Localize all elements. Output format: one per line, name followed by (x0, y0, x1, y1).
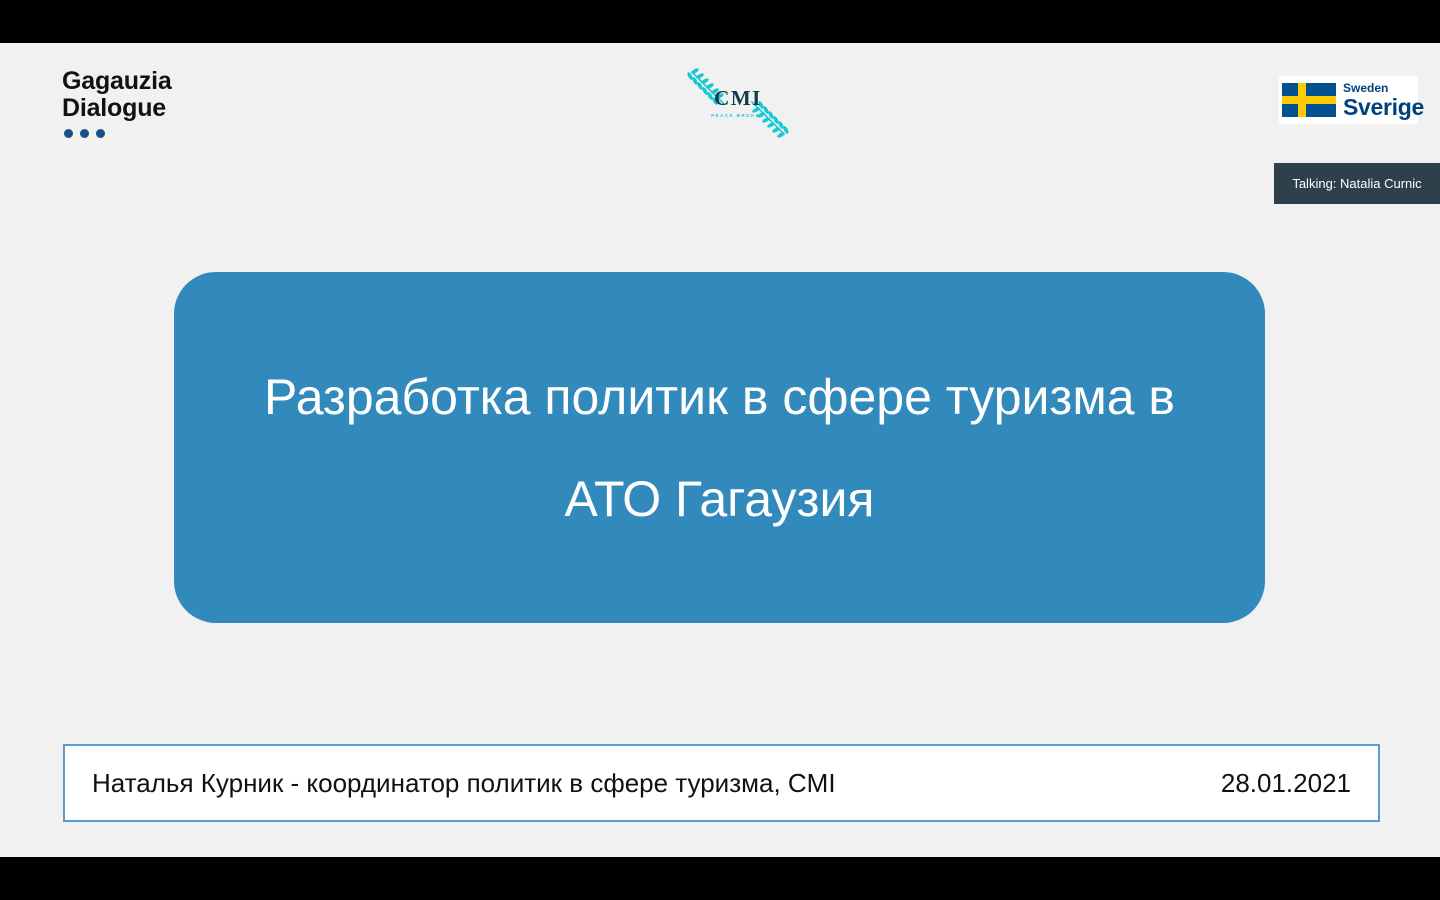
dot-icon (80, 129, 89, 138)
slide-title-box: Разработка политик в сфере туризма в АТО… (174, 272, 1265, 623)
sweden-logo-text: Sweden Sverige (1343, 82, 1424, 119)
presentation-stage: Gagauzia Dialogue (0, 0, 1440, 900)
cmi-logo-name: CMI (688, 86, 788, 111)
talking-speaker-badge: Talking: Natalia Curnic (1274, 163, 1440, 204)
slide-canvas: Gagauzia Dialogue (0, 43, 1440, 857)
sweden-label-en: Sweden (1343, 82, 1424, 94)
slide-title-line-1: Разработка политик в сфере туризма в (264, 372, 1175, 422)
swedish-flag-icon (1282, 83, 1336, 117)
sweden-sverige-logo: Sweden Sverige (1279, 76, 1418, 124)
gagauzia-logo-line-1: Gagauzia (62, 69, 172, 94)
talking-speaker-label: Talking: Natalia Curnic (1292, 176, 1421, 191)
cmi-logo-tagline: PEACE BROKER (688, 113, 788, 118)
gagauzia-logo-line-2: Dialogue (62, 96, 172, 121)
sweden-label-sv: Sverige (1343, 96, 1424, 119)
cmi-logo: CMI PEACE BROKER (688, 68, 788, 138)
gagauzia-dialogue-logo: Gagauzia Dialogue (62, 69, 172, 138)
flag-cross-horizontal (1282, 96, 1336, 104)
dot-icon (96, 129, 105, 138)
letterbox-bottom-bar (0, 857, 1440, 900)
cmi-logo-text: CMI PEACE BROKER (688, 86, 788, 118)
footer-date-label: 28.01.2021 (1221, 768, 1351, 799)
slide-title-line-2: АТО Гагаузия (565, 474, 875, 524)
letterbox-top-bar (0, 0, 1440, 43)
dot-icon (64, 129, 73, 138)
gagauzia-logo-dots-icon (62, 129, 172, 138)
footer-author-label: Наталья Курник - координатор политик в с… (92, 768, 836, 799)
slide-footer-bar: Наталья Курник - координатор политик в с… (63, 744, 1380, 822)
